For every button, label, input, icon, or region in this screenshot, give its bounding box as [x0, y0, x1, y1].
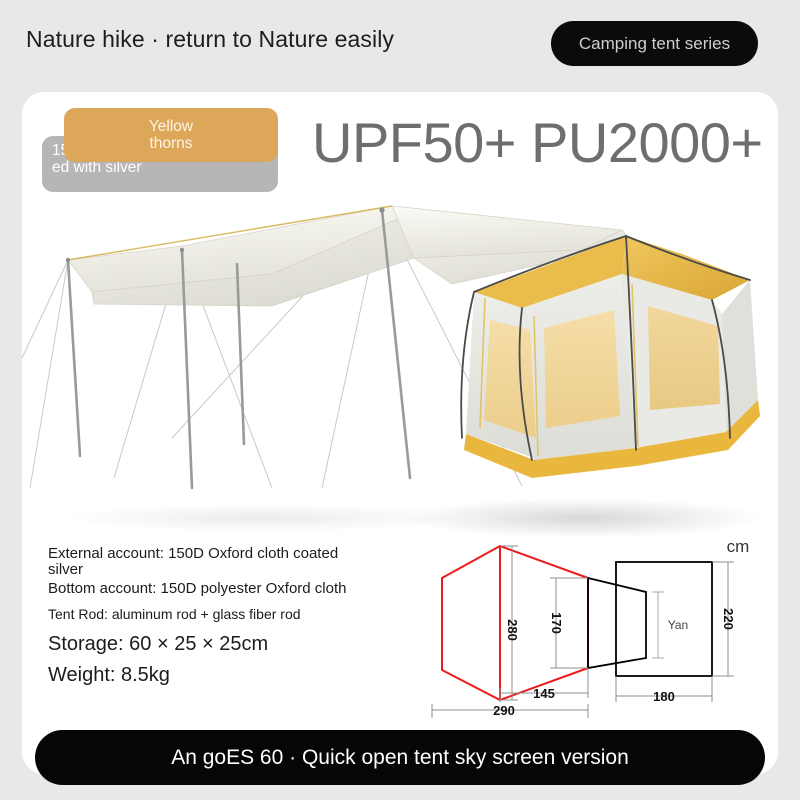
product-name-banner: An goES 60 · Quick open tent sky screen … [35, 730, 765, 785]
dim-145-label: 145 [533, 686, 555, 701]
tent-panel-front [544, 310, 620, 428]
dim-290-label: 290 [493, 703, 515, 718]
body-connector [588, 578, 646, 668]
dim-yan-line [652, 592, 664, 658]
spec-bottom-account: Bottom account: 150D polyester Oxford cl… [48, 581, 348, 597]
category-pill-label: Camping tent series [579, 34, 730, 54]
dim-280-label: 280 [505, 619, 520, 641]
badge-primary: Yellow thorns [64, 108, 278, 162]
inner-body-rect [616, 562, 712, 676]
spec-list: External account: 150D Oxford cloth coat… [48, 546, 348, 687]
dimension-diagram: 280 170 145 290 Yan [420, 530, 768, 720]
canopy-shadow [62, 504, 462, 532]
spec-external-account: External account: 150D Oxford cloth coat… [48, 546, 348, 578]
dim-yan-label: Yan [668, 618, 688, 632]
spec-tent-rod: Tent Rod: aluminum rod + glass fiber rod [48, 606, 348, 622]
badge-primary-line2: thorns [149, 135, 192, 152]
dim-170-label: 170 [549, 612, 564, 634]
page-header: Nature hike · return to Nature easily Ca… [0, 0, 800, 88]
unit-label: cm [727, 537, 750, 556]
page-title: Nature hike · return to Nature easily [26, 26, 394, 53]
spec-storage: Storage: 60 × 25 × 25cm [48, 633, 348, 656]
dim-220-label: 220 [721, 608, 736, 630]
product-card: 150D Oxford cloth coat- ed with silver Y… [22, 92, 778, 774]
spec-headline: UPF50+ PU2000+ [312, 110, 763, 175]
category-pill[interactable]: Camping tent series [551, 21, 758, 66]
badge-primary-line1: Yellow [149, 118, 193, 135]
tent-panel-left [484, 320, 536, 438]
dim-180-label: 180 [653, 689, 675, 704]
spec-weight: Weight: 8.5kg [48, 664, 348, 687]
product-name-label: An goES 60 · Quick open tent sky screen … [171, 746, 629, 770]
product-photo: Naturehike [22, 188, 778, 548]
